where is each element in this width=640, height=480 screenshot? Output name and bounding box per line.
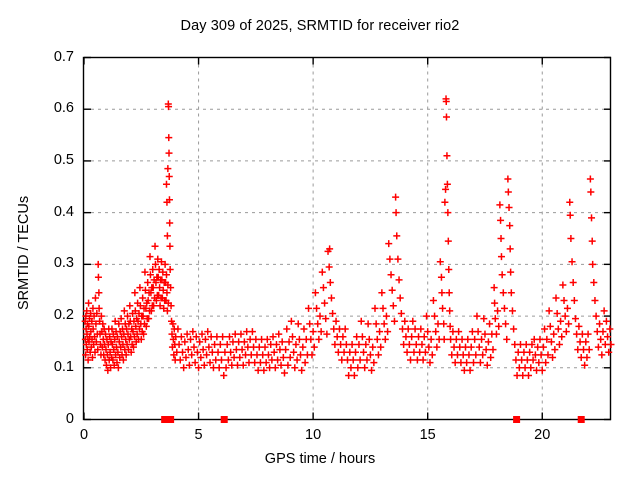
- data-point: [421, 333, 428, 340]
- data-point: [494, 307, 501, 314]
- data-point: [284, 362, 291, 369]
- data-point: [370, 359, 377, 366]
- data-point: [557, 318, 564, 325]
- data-point: [305, 305, 312, 312]
- data-point: [502, 320, 509, 327]
- data-point: [493, 331, 500, 338]
- data-point: [363, 357, 370, 364]
- data-point: [366, 336, 373, 343]
- data-point: [566, 199, 573, 206]
- data-point: [572, 315, 579, 322]
- data-point: [288, 318, 295, 325]
- data-point: [561, 297, 568, 304]
- data-point: [491, 300, 498, 307]
- data-point: [386, 256, 393, 263]
- data-point: [217, 341, 224, 348]
- data-point: [562, 313, 569, 320]
- data-point: [216, 364, 223, 371]
- data-point: [174, 326, 181, 333]
- data-point: [487, 354, 494, 361]
- data-point: [476, 344, 483, 351]
- data-point: [424, 328, 431, 335]
- data-point: [393, 232, 400, 239]
- data-point: [292, 341, 299, 348]
- data-point: [349, 341, 356, 348]
- data-point: [603, 318, 610, 325]
- data-point: [361, 364, 368, 371]
- data-point: [333, 318, 340, 325]
- data-point: [296, 336, 303, 343]
- data-point: [463, 359, 470, 366]
- y-tick-label: 0.3: [30, 255, 74, 271]
- data-point: [438, 289, 445, 296]
- data-point: [144, 279, 151, 286]
- data-point: [218, 357, 225, 364]
- data-point: [95, 274, 102, 281]
- data-point: [286, 338, 293, 345]
- data-point: [397, 294, 404, 301]
- x-tick-label: 5: [179, 427, 219, 443]
- data-point: [486, 320, 493, 327]
- zero-marker: [513, 416, 520, 423]
- data-point: [588, 214, 595, 221]
- data-point: [468, 344, 475, 351]
- data-point: [438, 274, 445, 281]
- data-point: [430, 297, 437, 304]
- x-axis-label: GPS time / hours: [0, 451, 640, 467]
- data-point: [394, 256, 401, 263]
- data-point: [299, 344, 306, 351]
- data-point: [287, 354, 294, 361]
- data-point: [166, 243, 173, 250]
- data-point: [313, 305, 320, 312]
- data-point: [464, 336, 471, 343]
- data-point: [472, 351, 479, 358]
- data-point: [152, 243, 159, 250]
- data-point: [339, 333, 346, 340]
- chart-canvas: Day 309 of 2025, SRMTID for receiver rio…: [0, 0, 640, 480]
- data-point: [553, 294, 560, 301]
- data-point: [380, 305, 387, 312]
- data-point: [563, 328, 570, 335]
- data-point: [164, 232, 171, 239]
- data-point: [470, 359, 477, 366]
- data-point: [551, 346, 558, 353]
- data-point: [369, 344, 376, 351]
- data-point: [431, 313, 438, 320]
- data-point: [559, 282, 566, 289]
- data-point: [587, 188, 594, 195]
- data-point: [596, 320, 603, 327]
- data-point: [601, 307, 608, 314]
- data-point: [495, 323, 502, 330]
- data-point: [92, 294, 99, 301]
- data-point: [347, 364, 354, 371]
- data-point: [423, 313, 430, 320]
- data-point: [359, 333, 366, 340]
- data-point: [215, 349, 222, 356]
- data-point: [166, 150, 173, 157]
- data-point: [422, 349, 429, 356]
- data-point: [298, 367, 305, 374]
- data-point: [418, 341, 425, 348]
- data-point: [546, 307, 553, 314]
- data-point: [590, 279, 597, 286]
- data-point: [220, 372, 227, 379]
- data-point: [405, 326, 412, 333]
- data-point: [558, 333, 565, 340]
- data-point: [376, 328, 383, 335]
- data-point: [506, 222, 513, 229]
- data-point: [595, 344, 602, 351]
- data-point: [374, 336, 381, 343]
- data-point: [373, 320, 380, 327]
- data-point: [506, 204, 513, 211]
- data-point: [508, 289, 515, 296]
- data-point: [350, 357, 357, 364]
- y-tick-label: 0.4: [30, 204, 74, 220]
- data-point: [432, 328, 439, 335]
- data-point: [471, 336, 478, 343]
- data-point: [443, 152, 450, 159]
- data-point: [455, 328, 462, 335]
- data-point: [599, 328, 606, 335]
- data-point: [392, 194, 399, 201]
- data-point: [445, 238, 452, 245]
- data-point: [290, 349, 297, 356]
- data-point: [440, 320, 447, 327]
- zero-marker: [167, 416, 174, 423]
- data-point: [498, 253, 505, 260]
- data-point: [291, 364, 298, 371]
- zero-marker: [161, 416, 168, 423]
- data-point: [491, 284, 498, 291]
- data-point: [429, 351, 436, 358]
- data-point: [428, 336, 435, 343]
- data-point: [480, 315, 487, 322]
- data-point: [420, 357, 427, 364]
- data-point: [357, 357, 364, 364]
- data-point: [355, 341, 362, 348]
- data-point: [583, 354, 590, 361]
- y-tick-label: 0.6: [30, 100, 74, 116]
- data-point: [589, 261, 596, 268]
- data-point: [507, 245, 514, 252]
- data-point: [391, 318, 398, 325]
- data-point: [393, 209, 400, 216]
- data-point: [308, 351, 315, 358]
- data-point: [365, 320, 372, 327]
- data-point: [439, 305, 446, 312]
- zero-marker: [578, 416, 585, 423]
- data-point: [587, 176, 594, 183]
- data-point: [388, 271, 395, 278]
- data-point: [485, 338, 492, 345]
- data-point: [166, 219, 173, 226]
- data-point: [121, 307, 128, 314]
- data-point: [597, 336, 604, 343]
- data-point: [368, 367, 375, 374]
- data-point: [398, 310, 405, 317]
- data-point: [540, 344, 547, 351]
- data-point: [310, 328, 317, 335]
- data-point: [95, 261, 102, 268]
- data-point: [289, 333, 296, 340]
- data-point: [382, 336, 389, 343]
- data-point: [475, 328, 482, 335]
- data-point: [505, 188, 512, 195]
- data-point: [295, 320, 302, 327]
- data-point: [85, 300, 92, 307]
- data-point: [498, 235, 505, 242]
- data-point: [467, 367, 474, 374]
- data-point: [556, 341, 563, 348]
- y-tick-label: 0.7: [30, 49, 74, 65]
- x-tick-label: 0: [64, 427, 104, 443]
- data-point: [385, 240, 392, 247]
- data-point: [126, 302, 133, 309]
- data-point: [585, 331, 592, 338]
- data-point: [378, 289, 385, 296]
- data-point: [496, 201, 503, 208]
- data-point: [555, 326, 562, 333]
- data-point: [307, 336, 314, 343]
- data-point: [163, 181, 170, 188]
- data-point: [433, 344, 440, 351]
- data-point: [443, 113, 450, 120]
- data-point: [542, 359, 549, 366]
- data-point: [95, 289, 102, 296]
- data-point: [409, 318, 416, 325]
- data-point: [483, 346, 490, 353]
- data-point: [283, 326, 290, 333]
- y-tick-label: 0: [30, 411, 74, 427]
- data-point: [582, 338, 589, 345]
- data-point: [302, 359, 309, 366]
- plot-area: [0, 0, 640, 480]
- data-point: [591, 297, 598, 304]
- data-point: [383, 313, 390, 320]
- data-point: [567, 235, 574, 242]
- zero-marker: [221, 416, 228, 423]
- data-point: [352, 349, 359, 356]
- data-point: [606, 326, 613, 333]
- data-point: [500, 289, 507, 296]
- y-tick-label: 0.5: [30, 152, 74, 168]
- data-point: [481, 331, 488, 338]
- data-point-group: [82, 95, 615, 379]
- data-point: [525, 372, 532, 379]
- data-point: [446, 307, 453, 314]
- data-point: [441, 199, 448, 206]
- data-point: [311, 344, 318, 351]
- data-point: [164, 165, 171, 172]
- data-point: [315, 336, 322, 343]
- data-point: [507, 269, 514, 276]
- data-point: [321, 300, 328, 307]
- data-point: [342, 326, 349, 333]
- data-point: [445, 266, 452, 273]
- data-point: [146, 253, 153, 260]
- data-point: [406, 341, 413, 348]
- data-point: [565, 320, 572, 327]
- data-point: [282, 346, 289, 353]
- data-point: [401, 318, 408, 325]
- data-point: [166, 173, 173, 180]
- data-point: [327, 279, 334, 286]
- data-point: [446, 289, 453, 296]
- data-point: [444, 209, 451, 216]
- axis-ticks: [84, 58, 611, 420]
- data-point: [320, 284, 327, 291]
- data-point: [314, 320, 321, 327]
- data-point: [300, 326, 307, 333]
- data-point: [360, 349, 367, 356]
- y-tick-label: 0.1: [30, 359, 74, 375]
- x-tick-label: 10: [293, 427, 333, 443]
- data-point: [319, 269, 326, 276]
- data-point: [509, 307, 516, 314]
- data-point: [377, 344, 384, 351]
- data-point: [538, 351, 545, 358]
- y-tick-label: 0.2: [30, 307, 74, 323]
- data-point: [351, 372, 358, 379]
- x-tick-label: 20: [522, 427, 562, 443]
- data-point: [593, 313, 600, 320]
- data-point: [297, 351, 304, 358]
- data-point: [131, 289, 138, 296]
- data-point: [489, 346, 496, 353]
- data-point: [501, 305, 508, 312]
- data-point: [478, 336, 485, 343]
- data-point: [328, 294, 335, 301]
- data-point: [503, 336, 510, 343]
- data-point: [219, 333, 226, 340]
- data-point: [477, 359, 484, 366]
- data-point: [499, 271, 506, 278]
- data-point: [384, 328, 391, 335]
- data-point: [165, 134, 172, 141]
- data-point: [497, 217, 504, 224]
- data-point: [473, 313, 480, 320]
- data-point: [441, 336, 448, 343]
- data-point: [362, 341, 369, 348]
- data-point: [504, 176, 511, 183]
- data-point: [598, 351, 605, 358]
- data-point: [375, 351, 382, 358]
- data-point: [586, 346, 593, 353]
- data-point: [404, 349, 411, 356]
- data-point: [550, 331, 557, 338]
- data-point: [381, 320, 388, 327]
- data-point: [367, 351, 374, 358]
- data-point: [396, 276, 403, 283]
- data-point: [465, 351, 472, 358]
- data-point: [407, 357, 414, 364]
- data-point: [570, 279, 577, 286]
- x-tick-label: 15: [408, 427, 448, 443]
- data-point: [306, 320, 313, 327]
- data-point: [564, 305, 571, 312]
- data-point: [281, 369, 288, 376]
- gridlines: [84, 58, 611, 420]
- data-point: [167, 266, 174, 273]
- data-point: [389, 287, 396, 294]
- data-point: [589, 238, 596, 245]
- data-point: [358, 318, 365, 325]
- data-point: [575, 323, 582, 330]
- data-point: [249, 328, 256, 335]
- data-point: [510, 326, 517, 333]
- data-point: [479, 351, 486, 358]
- data-point: [390, 302, 397, 309]
- data-point: [536, 336, 543, 343]
- data-point: [571, 297, 578, 304]
- data-point: [354, 364, 361, 371]
- data-point: [408, 333, 415, 340]
- data-point: [371, 305, 378, 312]
- data-point: [294, 357, 301, 364]
- data-point: [608, 341, 615, 348]
- data-point: [417, 326, 424, 333]
- data-point: [425, 344, 432, 351]
